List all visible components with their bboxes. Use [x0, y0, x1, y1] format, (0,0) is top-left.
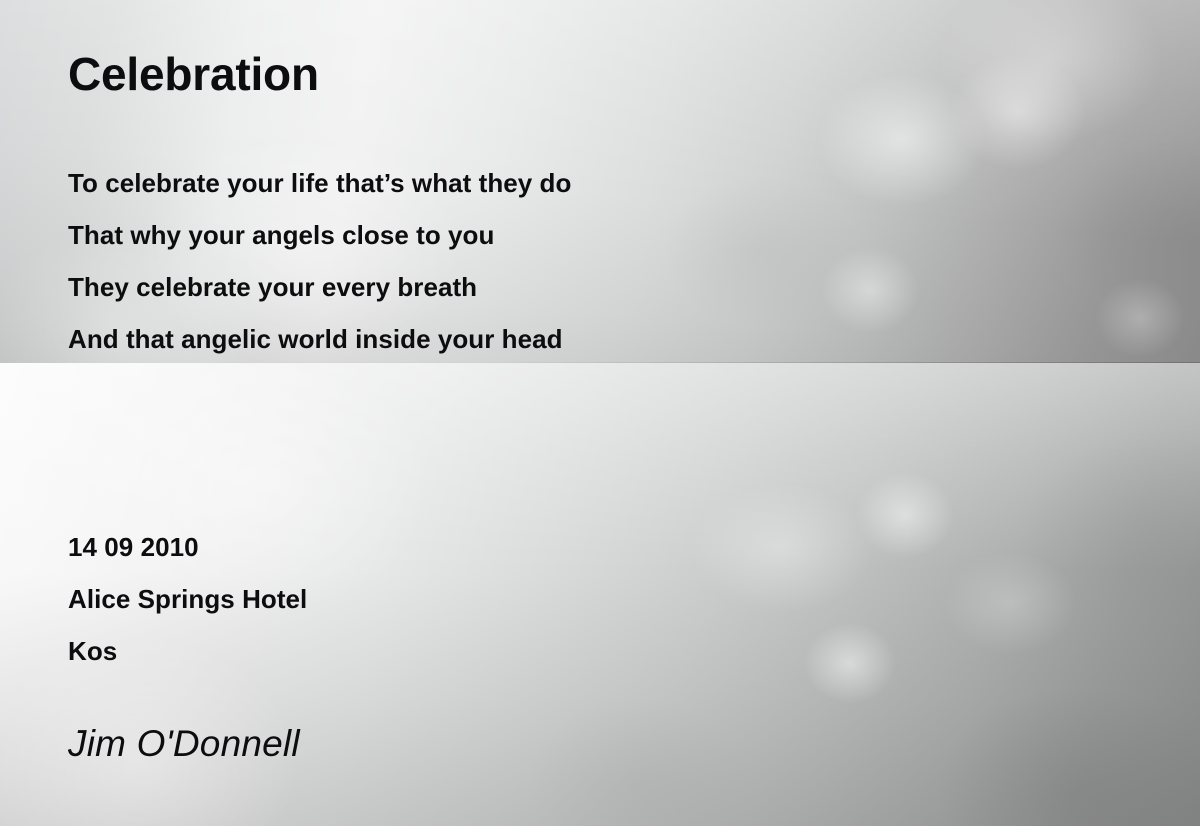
poem-content: Celebration To celebrate your life that’…	[0, 0, 1200, 826]
poem-line: And that angelic world inside your head	[68, 313, 571, 365]
poem-title: Celebration	[68, 50, 319, 98]
poem-body: To celebrate your life that’s what they …	[68, 157, 571, 365]
poem-date: 14 09 2010	[68, 521, 307, 573]
poem-author-signature: Jim O'Donnell	[68, 723, 300, 766]
poem-line: That why your angels close to you	[68, 209, 571, 261]
poem-line: To celebrate your life that’s what they …	[68, 157, 571, 209]
poem-dedication: Kos	[68, 625, 307, 677]
poem-line: They celebrate your every breath	[68, 261, 571, 313]
poem-card: Celebration To celebrate your life that’…	[0, 0, 1200, 826]
poem-metadata: 14 09 2010 Alice Springs Hotel Kos	[68, 521, 307, 677]
poem-location: Alice Springs Hotel	[68, 573, 307, 625]
